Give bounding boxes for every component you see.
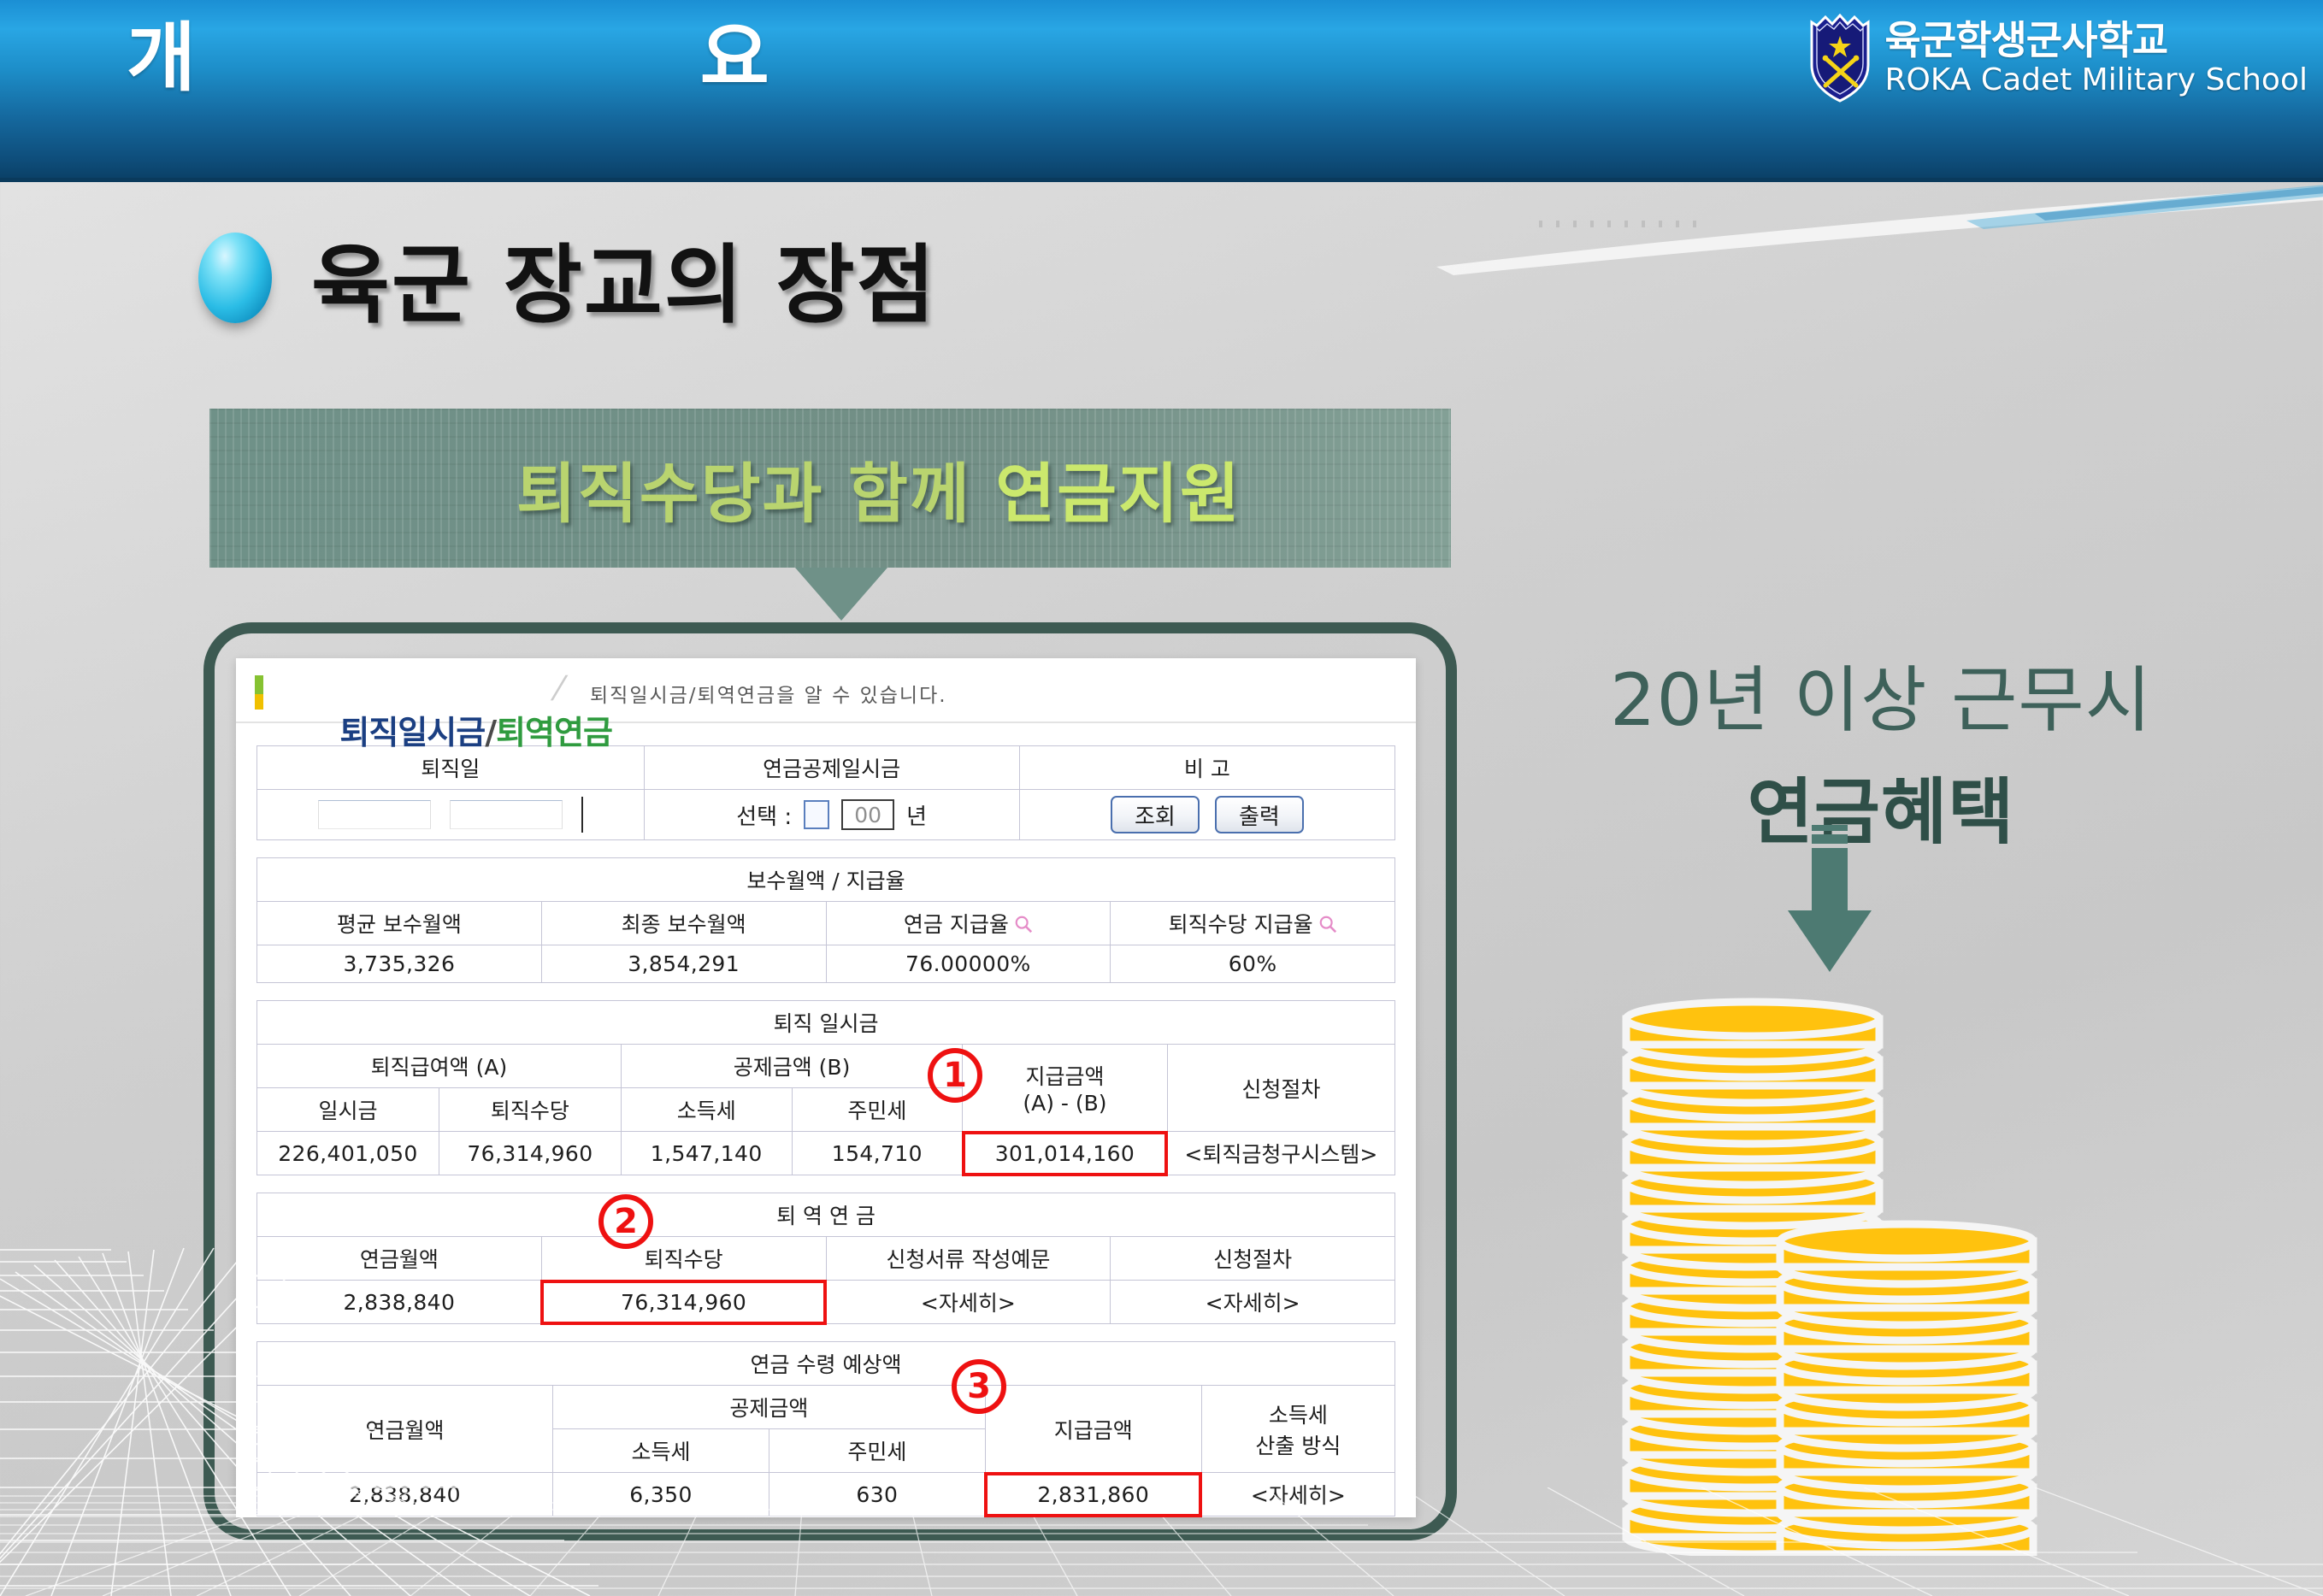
col-header-severance-pay: 퇴직수당	[439, 1088, 621, 1132]
col-header-pension-deduct-lumpsum: 연금공제일시금	[644, 746, 1019, 790]
coin-stacks-illustration	[1616, 975, 2061, 1556]
page-title: 개 요	[127, 19, 819, 97]
title-part-pension: 퇴역연금	[496, 714, 612, 751]
group-header-deduction-b: 공제금액 (B)	[621, 1045, 962, 1088]
col-header-severance-rate: 퇴직수당 지급율	[1111, 902, 1395, 945]
cell-procedure-link[interactable]: <자세히>	[1111, 1281, 1395, 1324]
cell-avg-monthly-pay: 3,735,326	[257, 945, 542, 983]
cell-application-procedure: <퇴직금청구시스템>	[1167, 1132, 1394, 1175]
text-caret	[581, 797, 583, 833]
cell-monthly-pension-2: 2,838,840	[257, 1473, 553, 1516]
cell-lumpsum: 226,401,050	[257, 1132, 439, 1175]
table-row: 퇴 역 연 금	[257, 1193, 1395, 1237]
cell-tax-method-link[interactable]: <자세히>	[1201, 1473, 1394, 1516]
shield-icon	[1807, 14, 1873, 103]
bullet-sphere-icon	[198, 233, 272, 323]
table-row: 226,401,050 76,314,960 1,547,140 154,710…	[257, 1132, 1395, 1175]
cell-income-tax: 1,547,140	[621, 1132, 792, 1175]
logo-name-ko: 육군학생군사학교	[1885, 21, 2308, 60]
cell-pension-rate: 76.00000%	[826, 945, 1111, 983]
select-checkbox[interactable]	[804, 800, 829, 829]
logo-text-block: 육군학생군사학교 ROKA Cadet Military School	[1885, 21, 2308, 96]
cell-resident-tax-2: 630	[769, 1473, 985, 1516]
col-header-application-doc-sample: 신청서류 작성예문	[826, 1237, 1111, 1281]
banner: 퇴직수당과 함께 연금지원	[209, 409, 1451, 568]
print-button[interactable]: 출력	[1215, 796, 1304, 833]
cell-income-tax-2: 6,350	[553, 1473, 769, 1516]
title-part-lumpsum: 퇴직일시금	[339, 714, 485, 751]
caption-expected-pension: 연금 수령 예상액	[257, 1342, 1395, 1386]
col-header-income-tax-2: 소득세	[553, 1429, 769, 1473]
group-header-retirement-benefit-a: 퇴직급여액 (A)	[257, 1045, 622, 1088]
cell-resident-tax: 154,710	[792, 1132, 963, 1175]
table-row: 보수월액 / 지급율	[257, 858, 1395, 902]
right-callout: 20년 이상 근무시 연금혜택	[1505, 643, 2257, 858]
slide-heading-row: 육군 장교의 장점	[198, 215, 937, 339]
cell-year-select: 선택 : 00 년	[644, 790, 1019, 840]
pension-calculator-screenshot: 퇴직일시금/퇴역연금 / 퇴직일시금/퇴역연금을 알 수 있습니다. 퇴직일 연…	[236, 658, 1416, 1517]
table-expected-pension: 연금 수령 예상액 연금월액 공제금액 지급금액 소득세 산출 방식 소득세 주…	[256, 1341, 1395, 1516]
table-row: 연금 수령 예상액	[257, 1342, 1395, 1386]
col-header-payout-amount-2: 지급금액	[985, 1386, 1201, 1473]
col-header-remarks: 비 고	[1019, 746, 1394, 790]
col-header-resident-tax-2: 주민세	[769, 1429, 985, 1473]
col-header-income-tax: 소득세	[621, 1088, 792, 1132]
slide-heading: 육군 장교의 장점	[311, 215, 937, 339]
decorative-dotted-line	[1539, 221, 1710, 227]
cell-doc-sample-link[interactable]: <자세히>	[826, 1281, 1111, 1324]
cell-severance-pay: 76,314,960	[439, 1132, 621, 1175]
col-header-monthly-pension: 연금월액	[257, 1237, 542, 1281]
col-header-tax-calc-method: 소득세 산출 방식	[1201, 1386, 1394, 1473]
banner-arrow-icon	[795, 568, 887, 621]
col-header-severance-pay-2: 퇴직수당	[541, 1237, 826, 1281]
search-button[interactable]: 조회	[1111, 796, 1200, 833]
col-header-payout-amount: 지급금액 (A) - (B)	[963, 1045, 1168, 1132]
table-row: 퇴직급여액 (A) 공제금액 (B) 지급금액 (A) - (B) 신청절차	[257, 1045, 1395, 1088]
col-header-pension-rate: 연금 지급율	[826, 902, 1111, 945]
year-unit-label: 년	[906, 799, 927, 831]
year-input[interactable]: 00	[841, 799, 894, 830]
cell-monthly-pension: 2,838,840	[257, 1281, 542, 1324]
cell-final-monthly-pay: 3,854,291	[541, 945, 826, 983]
table-row: 3,735,326 3,854,291 76.00000% 60%	[257, 945, 1395, 983]
screenshot-body: 퇴직일 연금공제일시금 비 고 선택 : 00	[236, 723, 1416, 1517]
date-input-from[interactable]	[318, 800, 431, 829]
title-slash: /	[485, 714, 496, 751]
col-header-monthly-pension-2: 연금월액	[257, 1386, 553, 1473]
search-icon[interactable]	[1318, 915, 1337, 933]
table-monthly-pay-rate: 보수월액 / 지급율 평균 보수월액 최종 보수월액 연금 지급율 퇴직수당 지…	[256, 857, 1395, 983]
col-header-lumpsum: 일시금	[257, 1088, 439, 1132]
table-retirement-pension: 퇴 역 연 금 연금월액 퇴직수당 신청서류 작성예문 신청절차 2,838,8…	[256, 1193, 1395, 1324]
search-icon[interactable]	[1014, 915, 1033, 933]
col-header-application-procedure-2: 신청절차	[1111, 1237, 1395, 1281]
cell-payout-amount-highlighted: 301,014,160	[963, 1132, 1168, 1175]
callout-line-1: 20년 이상 근무시	[1505, 643, 2257, 746]
cell-severance-pay-highlighted: 76,314,960	[541, 1281, 826, 1324]
select-label: 선택 :	[736, 799, 792, 831]
banner-text-accent: 연금지원	[995, 456, 1241, 532]
col-header-resident-tax: 주민세	[792, 1088, 963, 1132]
table-row: 2,838,840 6,350 630 2,831,860 <자세히>	[257, 1473, 1395, 1516]
caption-monthly-pay-rate: 보수월액 / 지급율	[257, 858, 1395, 902]
table-row: 평균 보수월액 최종 보수월액 연금 지급율 퇴직수당 지급율	[257, 902, 1395, 945]
coin-stack-right	[1780, 1224, 2033, 1556]
logo-name-en: ROKA Cadet Military School	[1885, 65, 2308, 96]
callout-line-2: 연금혜택	[1505, 755, 2257, 858]
screenshot-subtitle: 퇴직일시금/퇴역연금을 알 수 있습니다.	[590, 679, 947, 708]
table-row: 2,838,840 76,314,960 <자세히> <자세히>	[257, 1281, 1395, 1324]
caption-retirement-pension: 퇴 역 연 금	[257, 1193, 1395, 1237]
table-row: 연금월액 퇴직수당 신청서류 작성예문 신청절차	[257, 1237, 1395, 1281]
col-header-application-procedure: 신청절차	[1167, 1045, 1394, 1132]
cell-action-buttons: 조회 출력	[1019, 790, 1394, 840]
decorative-swoosh	[1436, 185, 2323, 287]
cell-payout-amount-2-highlighted: 2,831,860	[985, 1473, 1201, 1516]
cell-date-inputs	[257, 790, 645, 840]
group-header-deduction: 공제금액	[553, 1386, 986, 1429]
cell-severance-rate: 60%	[1111, 945, 1395, 983]
date-input-to[interactable]	[450, 800, 563, 829]
table-retirement-lumpsum: 퇴직 일시금 퇴직급여액 (A) 공제금액 (B) 지급금액 (A) - (B)…	[256, 1000, 1395, 1175]
banner-text-plain: 퇴직수당과 함께	[516, 456, 995, 532]
table-row: 연금월액 공제금액 지급금액 소득세 산출 방식	[257, 1386, 1395, 1429]
down-arrow-icon	[1783, 825, 1877, 975]
slide-header-bar: 개 요 육군학생군사학교 ROKA Cadet Military School	[0, 0, 2323, 182]
col-header-avg-monthly-pay: 평균 보수월액	[257, 902, 542, 945]
table-row: 퇴직 일시금	[257, 1001, 1395, 1045]
caption-retirement-lumpsum: 퇴직 일시금	[257, 1001, 1395, 1045]
screenshot-header: 퇴직일시금/퇴역연금 / 퇴직일시금/퇴역연금을 알 수 있습니다.	[236, 658, 1416, 723]
col-header-final-monthly-pay: 최종 보수월액	[541, 902, 826, 945]
accent-bar-icon	[255, 675, 263, 710]
table-row: 선택 : 00 년 조회 출력	[257, 790, 1395, 840]
school-logo: 육군학생군사학교 ROKA Cadet Military School	[1807, 14, 2308, 103]
